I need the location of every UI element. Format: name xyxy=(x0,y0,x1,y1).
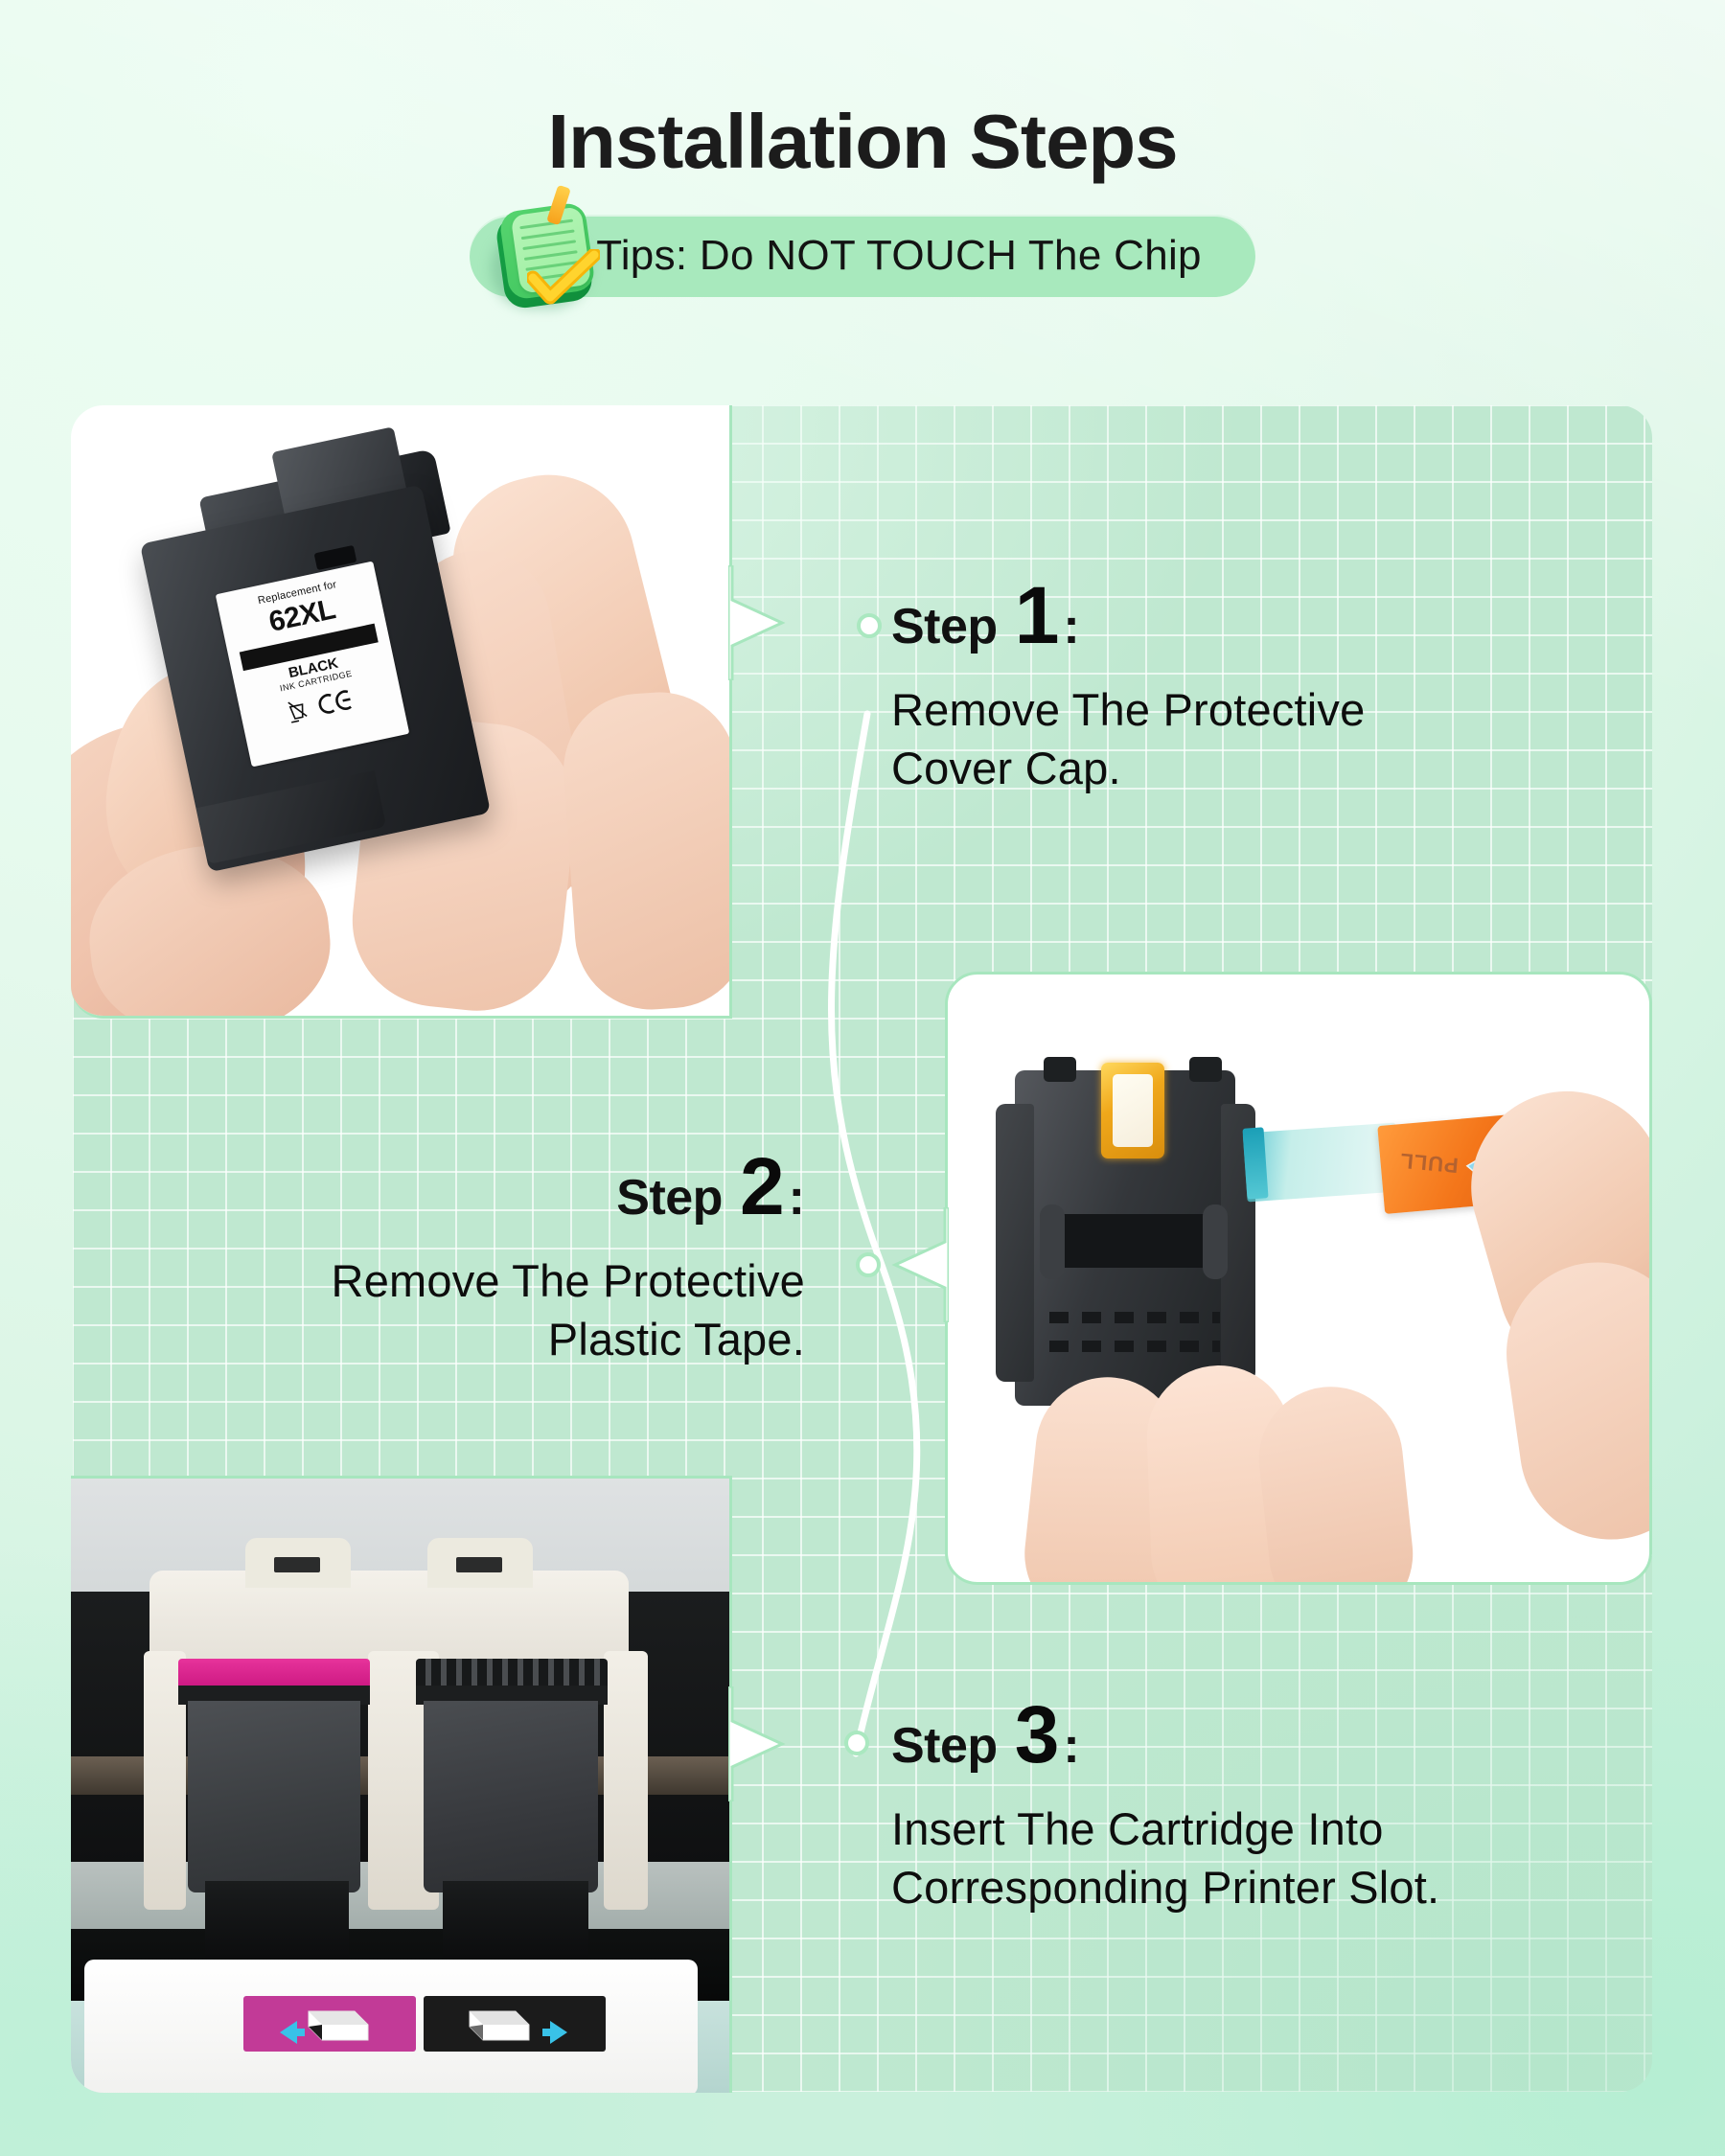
step-3-connector-dot xyxy=(844,1731,869,1755)
step-3-colon: : xyxy=(1063,1718,1079,1774)
step-2-heading: Step2: xyxy=(172,1146,805,1227)
photo-printer-carriage xyxy=(71,1479,729,2093)
step-3-description: Insert The Cartridge Into Corresponding … xyxy=(891,1800,1600,1916)
step-2-line-2: Plastic Tape. xyxy=(172,1310,805,1368)
step-1-connector-dot xyxy=(857,613,882,638)
step-3-pointer-notch xyxy=(728,1686,790,1801)
step-1-text: Step1: Remove The Protective Cover Cap. xyxy=(891,575,1552,797)
page-title: Installation Steps xyxy=(0,103,1725,180)
step-3-word: Step xyxy=(891,1718,998,1774)
step-2-description: Remove The Protective Plastic Tape. xyxy=(172,1251,805,1368)
header: Installation Steps xyxy=(0,0,1725,297)
step-1-pointer-notch xyxy=(728,565,790,680)
step-2-photo-card: PULL xyxy=(945,972,1652,1585)
step-1-colon: : xyxy=(1063,599,1079,654)
step-3-number: 3 xyxy=(1015,1689,1058,1779)
step-2-connector-dot xyxy=(856,1252,881,1277)
step-3-heading: Step3: xyxy=(891,1694,1600,1775)
step-3-line-2: Corresponding Printer Slot. xyxy=(891,1858,1600,1916)
step-2-line-1: Remove The Protective xyxy=(172,1251,805,1310)
step-1-number: 1 xyxy=(1015,570,1058,660)
step-3-text: Step3: Insert The Cartridge Into Corresp… xyxy=(891,1694,1600,1916)
photo-hand-cartridge: Replacement for 62XL BLACK INK CARTRIDGE xyxy=(71,405,729,1016)
tips-text: Tips: Do NOT TOUCH The Chip xyxy=(596,232,1202,280)
step-2-pointer-notch xyxy=(887,1207,949,1322)
step-1-line-1: Remove The Protective xyxy=(891,680,1552,739)
step-2-colon: : xyxy=(789,1170,805,1226)
photo-pull-tape: PULL xyxy=(948,975,1649,1582)
step-3-line-1: Insert The Cartridge Into xyxy=(891,1800,1600,1858)
notepad-check-icon xyxy=(483,190,608,316)
step-1-description: Remove The Protective Cover Cap. xyxy=(891,680,1552,797)
step-1-word: Step xyxy=(891,599,998,654)
step-1-photo-card: Replacement for 62XL BLACK INK CARTRIDGE xyxy=(71,405,732,1019)
step-3-photo-card xyxy=(71,1476,732,2093)
step-1-line-2: Cover Cap. xyxy=(891,739,1552,797)
step-2-text: Step2: Remove The Protective Plastic Tap… xyxy=(172,1146,805,1368)
step-1-heading: Step1: xyxy=(891,575,1552,655)
step-2-number: 2 xyxy=(740,1141,783,1231)
step-2-word: Step xyxy=(616,1170,723,1226)
tips-banner: Tips: Do NOT TOUCH The Chip xyxy=(470,215,1255,297)
